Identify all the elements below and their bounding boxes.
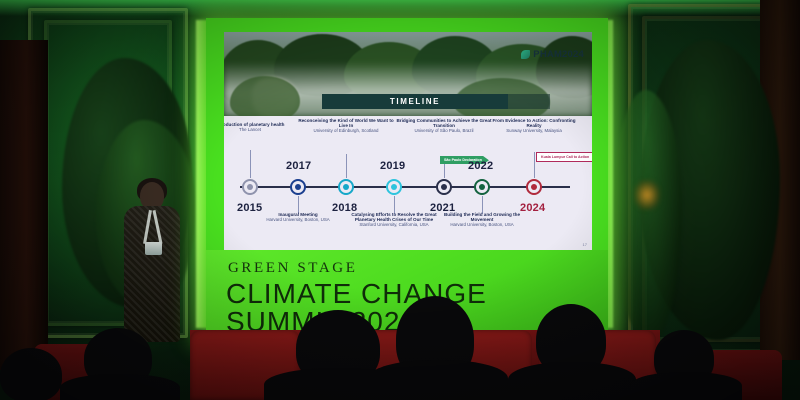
timeline-year-2024: 2024	[520, 202, 545, 214]
audience-shoulders	[368, 360, 508, 400]
timeline-year-2017: 2017	[286, 160, 311, 172]
caption-subtitle: University of São Paulo, Brazil	[396, 129, 492, 134]
caption-subtitle: Sunway University, Malaysia	[486, 129, 582, 134]
timeline-caption-2018: Reconceiving the Kind of World We Want t…	[298, 118, 394, 134]
timeline-node-2018[interactable]	[338, 179, 354, 195]
caption-title: Bridging Communities to Achieve the Grea…	[396, 118, 492, 128]
timeline-banner-shadow	[508, 94, 550, 109]
audience-shoulders	[630, 372, 742, 400]
caption-subtitle: Stanford University, California, USA	[346, 223, 442, 228]
audience-shoulders	[508, 362, 636, 400]
caption-title: Catalysing Efforts to Resolve the Great …	[346, 212, 442, 222]
leaf-icon	[521, 50, 530, 59]
caption-subtitle: The Lancet	[224, 128, 298, 133]
badge-kuala-lumpur-call-to-action[interactable]: Kuala Lumpur Call to Action	[536, 152, 592, 162]
timeline-node-2024[interactable]	[526, 179, 542, 195]
lanyard-badge	[145, 242, 162, 255]
pham-logo-text: PHAM2024	[533, 49, 584, 60]
timeline-caption-2015: Introduction of planetary health The Lan…	[224, 122, 298, 133]
pham-logo: PHAM2024	[521, 49, 584, 60]
timeline-caption-2022: Building the Field and Growing the Movem…	[434, 212, 530, 228]
plant-decor-right-b	[612, 90, 682, 340]
caption-title: Reconceiving the Kind of World We Want t…	[298, 118, 394, 128]
caption-subtitle: Harvard University, Boston, USA	[434, 223, 530, 228]
timeline-node-2022[interactable]	[474, 179, 490, 195]
caption-title: Building the Field and Growing the Movem…	[434, 212, 530, 222]
timeline-node-2019[interactable]	[386, 179, 402, 195]
timeline-node-2021[interactable]	[436, 179, 452, 195]
timeline-stem-2018	[346, 154, 347, 178]
presenter	[120, 182, 182, 342]
caption-title: Introduction of planetary health	[224, 122, 298, 127]
slide-page-number: 17	[583, 242, 587, 247]
presentation-slide: PHAM2024 TIMELINE 2015 Introduction of p…	[224, 32, 592, 250]
caption-title: From Evidence to Action: Confronting Rea…	[486, 118, 582, 128]
led-presentation-screen: PHAM2024 TIMELINE 2015 Introduction of p…	[206, 18, 608, 330]
warm-accent-lamp	[634, 180, 660, 210]
audience-head	[0, 348, 62, 400]
caption-subtitle: Harvard University, Boston, USA	[250, 218, 346, 223]
timeline-banner: TIMELINE	[322, 94, 508, 109]
timeline-caption-2024: From Evidence to Action: Confronting Rea…	[486, 118, 582, 134]
timeline-node-2017[interactable]	[290, 179, 306, 195]
timeline-body: 2015 Introduction of planetary health Th…	[224, 116, 592, 250]
audience-shoulders	[60, 374, 180, 400]
timeline-caption-2021: Bridging Communities to Achieve the Grea…	[396, 118, 492, 134]
banner-eyebrow: GREEN STAGE	[228, 260, 357, 277]
curtain-left	[0, 40, 48, 370]
timeline-year-2022: 2022	[468, 160, 493, 172]
conference-hall-photo: PHAM2024 TIMELINE 2015 Introduction of p…	[0, 0, 800, 400]
presenter-body	[124, 206, 180, 342]
timeline-node-2015[interactable]	[242, 179, 258, 195]
timeline-year-2019: 2019	[380, 160, 405, 172]
timeline-stem-2015	[250, 150, 251, 178]
caption-subtitle: University of Edinburgh, Scotland	[298, 129, 394, 134]
timeline-caption-2019: Catalysing Efforts to Resolve the Great …	[346, 212, 442, 228]
timeline-stem-2024	[534, 152, 535, 178]
timeline-banner-label: TIMELINE	[390, 97, 440, 106]
